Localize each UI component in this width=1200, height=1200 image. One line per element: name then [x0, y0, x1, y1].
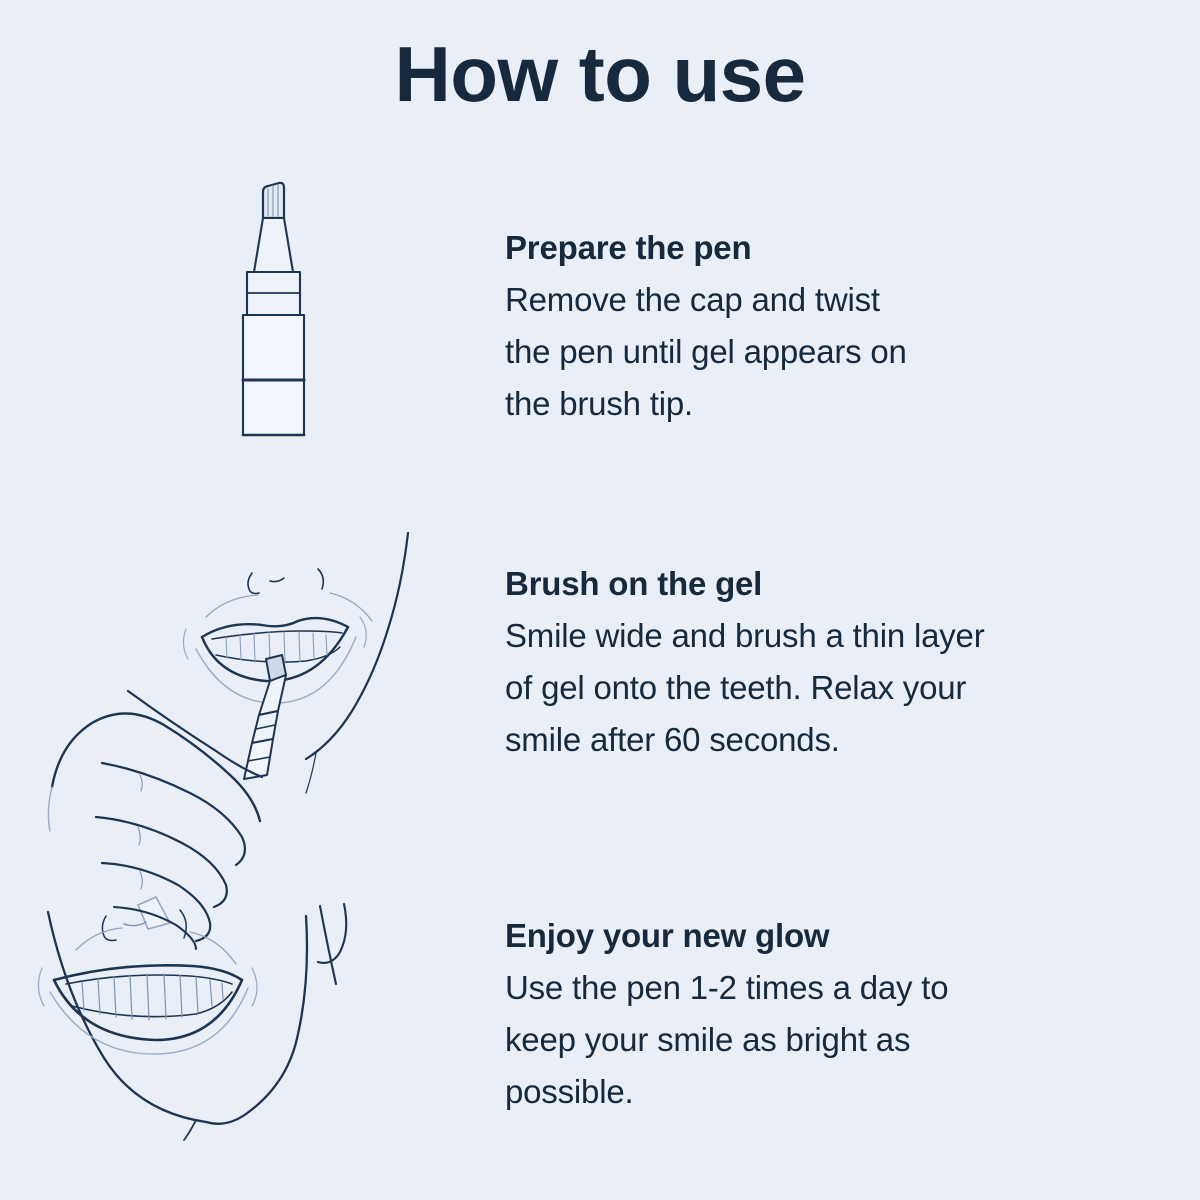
- step-3-body-line-1: Use the pen 1-2 times a day to: [505, 962, 1155, 1014]
- step-1-heading: Prepare the pen: [505, 222, 1155, 274]
- whitening-pen-icon: [150, 180, 510, 470]
- step-3-body-line-2: keep your smile as bright as: [505, 1014, 1155, 1066]
- step-3-body-line-3: possible.: [505, 1066, 1155, 1118]
- step-3-body: Use the pen 1-2 times a day to keep your…: [505, 962, 1155, 1118]
- how-to-use-infographic: How to use P: [0, 0, 1200, 1200]
- page-title: How to use: [0, 34, 1200, 116]
- step-1-body-line-2: the pen until gel appears on: [505, 326, 1155, 378]
- step-2-heading: Brush on the gel: [505, 558, 1155, 610]
- step-1-body-line-1: Remove the cap and twist: [505, 274, 1155, 326]
- step-3: Enjoy your new glow Use the pen 1-2 time…: [0, 880, 1200, 1180]
- step-2-body-line-2: of gel onto the teeth. Relax your: [505, 662, 1155, 714]
- step-2-text: Brush on the gel Smile wide and brush a …: [505, 558, 1155, 766]
- step-1-body: Remove the cap and twist the pen until g…: [505, 274, 1155, 430]
- step-1-body-line-3: the brush tip.: [505, 378, 1155, 430]
- step-1-text: Prepare the pen Remove the cap and twist…: [505, 222, 1155, 430]
- step-2-body: Smile wide and brush a thin layer of gel…: [505, 610, 1155, 766]
- step-2-body-line-1: Smile wide and brush a thin layer: [505, 610, 1155, 662]
- hand-brushing-teeth-icon: [30, 525, 390, 815]
- step-2-body-line-3: smile after 60 seconds.: [505, 714, 1155, 766]
- smiling-face-icon: [10, 888, 370, 1178]
- step-3-text: Enjoy your new glow Use the pen 1-2 time…: [505, 910, 1155, 1118]
- step-2: Brush on the gel Smile wide and brush a …: [0, 525, 1200, 825]
- step-3-heading: Enjoy your new glow: [505, 910, 1155, 962]
- step-1: Prepare the pen Remove the cap and twist…: [0, 175, 1200, 475]
